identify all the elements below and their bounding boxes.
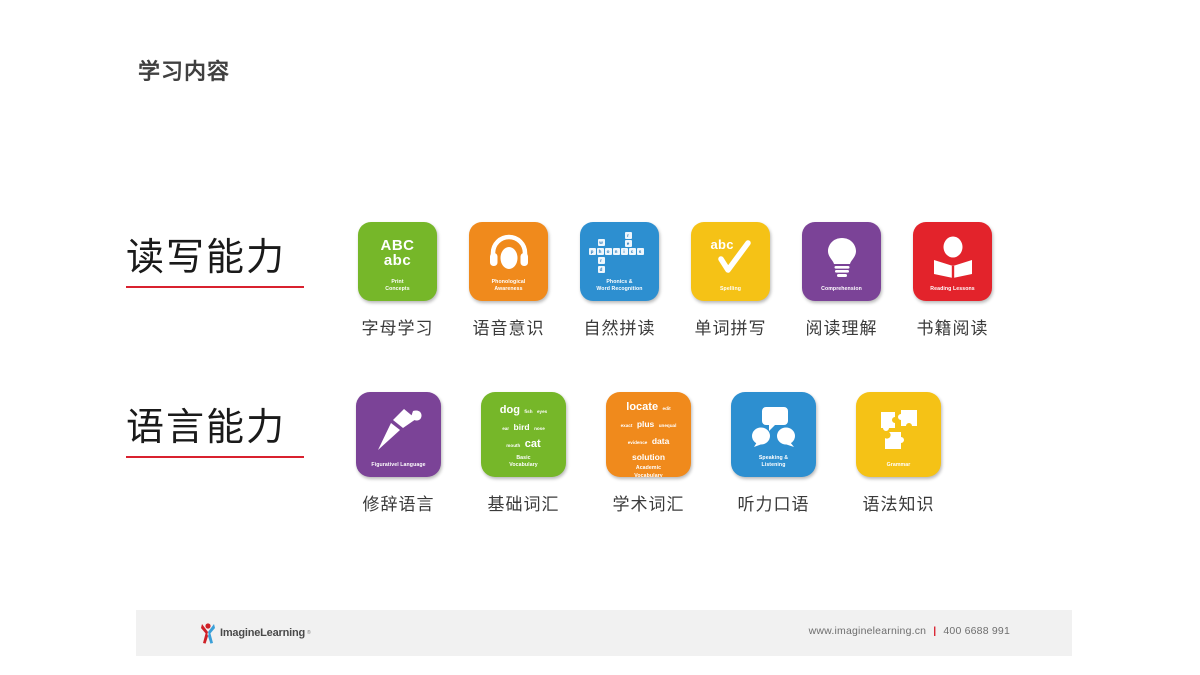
tile-item-speaking-listening[interactable]: Speaking & Listening 听力口语 bbox=[731, 392, 816, 515]
tile-label: 语音意识 bbox=[473, 314, 545, 339]
tile-label: 听力口语 bbox=[738, 490, 810, 515]
section-label-text: 语言能力 bbox=[126, 408, 326, 450]
footer-separator: | bbox=[933, 625, 936, 637]
comprehension-tile[interactable]: Comprehension bbox=[802, 222, 881, 301]
phonics-word-recognition-tile[interactable]: w r e p h o n i c s r d Phonics & Word R bbox=[580, 222, 659, 301]
imagine-learning-logo: ImagineLearning ® bbox=[198, 621, 311, 645]
word: plus bbox=[637, 419, 654, 429]
tile-item-figurative-language[interactable]: Figurativel Language 修辞语言 bbox=[356, 392, 441, 515]
checkmark-icon: abc bbox=[691, 222, 770, 286]
tile-item-phonological-awareness[interactable]: Phonological Awareness 语音意识 bbox=[469, 222, 548, 339]
tile-caption: Print Concepts bbox=[382, 279, 412, 301]
word: data bbox=[652, 436, 669, 446]
word: eyes bbox=[537, 409, 547, 414]
logo-trademark: ® bbox=[307, 630, 311, 636]
headphones-icon bbox=[469, 222, 548, 279]
tile-caption: Grammar bbox=[884, 462, 914, 477]
page-title: 学习内容 bbox=[138, 54, 230, 86]
tile-item-comprehension[interactable]: Comprehension 阅读理解 bbox=[802, 222, 881, 339]
wordcloud-icon: dog fish eyes ear bird nose mouth cat bbox=[481, 392, 566, 455]
phonological-awareness-tile[interactable]: Phonological Awareness bbox=[469, 222, 548, 301]
tile-label: 书籍阅读 bbox=[917, 314, 989, 339]
grammar-tile[interactable]: Grammar bbox=[856, 392, 941, 477]
tile-item-reading-lessons[interactable]: Reading Lessons 书籍阅读 bbox=[913, 222, 992, 339]
abc-upper-text: ABC bbox=[381, 238, 415, 253]
tile-label: 学术词汇 bbox=[613, 490, 685, 515]
logo-text: ImagineLearning bbox=[220, 627, 305, 639]
basic-vocabulary-tile[interactable]: dog fish eyes ear bird nose mouth cat bbox=[481, 392, 566, 477]
paintbrush-icon bbox=[356, 392, 441, 462]
logo-figure-icon bbox=[198, 621, 218, 645]
academic-vocabulary-tile[interactable]: locate edit exact plus unequal evidence … bbox=[606, 392, 691, 477]
tile-group-literacy: ABC abc Print Concepts 字母学习 bbox=[358, 222, 992, 339]
tile-item-grammar[interactable]: Grammar 语法知识 bbox=[856, 392, 941, 515]
wordcloud-icon: locate edit exact plus unequal evidence … bbox=[606, 392, 691, 465]
word: dog bbox=[500, 404, 520, 416]
tile-label: 基础词汇 bbox=[488, 490, 560, 515]
word: cat bbox=[525, 438, 541, 450]
word: bird bbox=[514, 422, 530, 432]
tile-label: 阅读理解 bbox=[806, 314, 878, 339]
footer-bar: ImagineLearning ® www.imaginelearning.cn… bbox=[136, 610, 1072, 656]
tile-label: 修辞语言 bbox=[363, 490, 435, 515]
word: mouth bbox=[506, 443, 520, 448]
spelling-tile[interactable]: abc Spelling bbox=[691, 222, 770, 301]
tile-caption: Academic Vocabulary bbox=[631, 465, 666, 477]
crossword-icon: w r e p h o n i c s r d bbox=[580, 222, 659, 279]
tile-label: 自然拼读 bbox=[584, 314, 656, 339]
speaking-listening-tile[interactable]: Speaking & Listening bbox=[731, 392, 816, 477]
lightbulb-icon bbox=[802, 222, 881, 286]
print-concepts-tile[interactable]: ABC abc Print Concepts bbox=[358, 222, 437, 301]
abc-icon: ABC abc bbox=[358, 222, 437, 279]
word: evidence bbox=[628, 440, 648, 445]
tile-item-spelling[interactable]: abc Spelling 单词拼写 bbox=[691, 222, 770, 339]
section-underline bbox=[126, 286, 304, 288]
tile-caption: Figurativel Language bbox=[368, 462, 428, 477]
word: nose bbox=[534, 426, 545, 431]
tile-caption: Speaking & Listening bbox=[756, 455, 791, 477]
tile-group-language: Figurativel Language 修辞语言 dog fish eyes … bbox=[356, 392, 941, 515]
tile-caption: Comprehension bbox=[818, 286, 865, 301]
tile-label: 语法知识 bbox=[863, 490, 935, 515]
tile-label: 单词拼写 bbox=[695, 314, 767, 339]
word: fish bbox=[524, 409, 532, 414]
section-label-text: 读写能力 bbox=[126, 238, 326, 280]
tile-item-phonics-word-recognition[interactable]: w r e p h o n i c s r d Phonics & Word R bbox=[580, 222, 659, 339]
tile-item-print-concepts[interactable]: ABC abc Print Concepts 字母学习 bbox=[358, 222, 437, 339]
footer-contact: www.imaginelearning.cn | 400 6688 991 bbox=[809, 625, 1010, 637]
section-underline bbox=[126, 456, 304, 458]
person-book-icon bbox=[913, 222, 992, 286]
tile-caption: Spelling bbox=[717, 286, 744, 301]
footer-phone: 400 6688 991 bbox=[943, 625, 1010, 637]
tile-item-basic-vocabulary[interactable]: dog fish eyes ear bird nose mouth cat bbox=[481, 392, 566, 515]
tile-caption: Phonological Awareness bbox=[489, 279, 529, 301]
puzzle-icon bbox=[856, 392, 941, 462]
word: unequal bbox=[659, 423, 677, 428]
speech-bubbles-icon bbox=[731, 392, 816, 455]
tile-label: 字母学习 bbox=[362, 314, 434, 339]
tile-caption: Phonics & Word Recognition bbox=[593, 279, 645, 301]
section-label-literacy: 读写能力 bbox=[126, 238, 326, 288]
word: ear bbox=[502, 426, 509, 431]
tile-caption: Reading Lessons bbox=[927, 286, 977, 301]
tile-caption: Basic Vocabulary bbox=[506, 455, 541, 477]
word: solution bbox=[632, 452, 665, 462]
word: edit bbox=[663, 406, 671, 411]
abc-lower-text: abc bbox=[381, 253, 415, 268]
word: locate bbox=[626, 401, 658, 413]
tile-item-academic-vocabulary[interactable]: locate edit exact plus unequal evidence … bbox=[606, 392, 691, 515]
footer-website[interactable]: www.imaginelearning.cn bbox=[809, 625, 927, 637]
word: exact bbox=[621, 423, 633, 428]
reading-lessons-tile[interactable]: Reading Lessons bbox=[913, 222, 992, 301]
section-label-language: 语言能力 bbox=[126, 408, 326, 458]
figurative-language-tile[interactable]: Figurativel Language bbox=[356, 392, 441, 477]
